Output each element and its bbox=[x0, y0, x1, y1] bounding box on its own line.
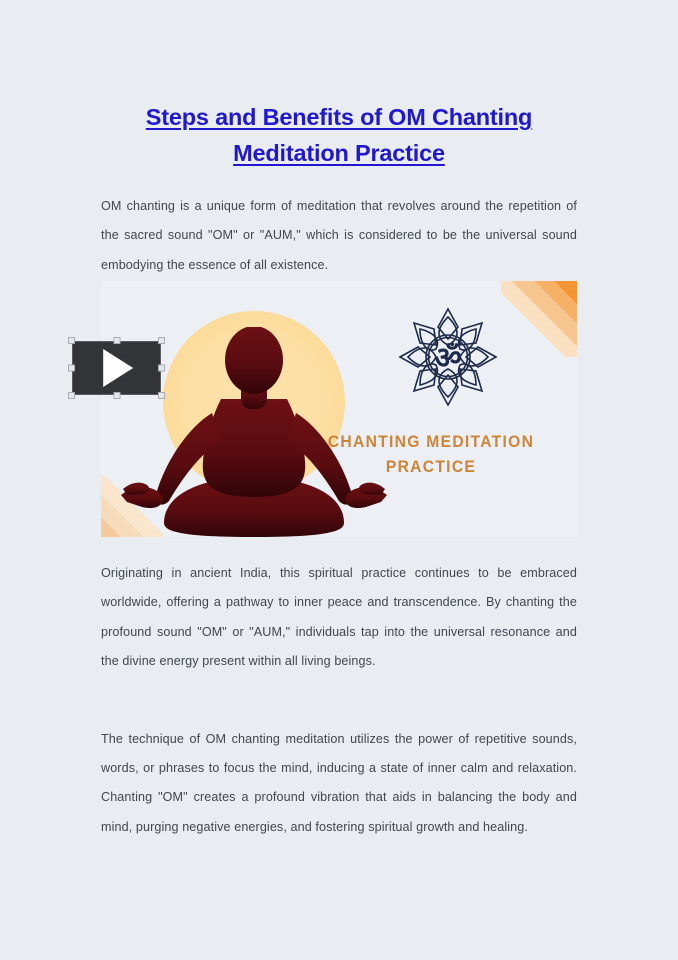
selection-handle-middle-left[interactable] bbox=[68, 365, 75, 372]
selection-handle-top-right[interactable] bbox=[158, 337, 165, 344]
figure-caption: CHANTING MEDITATION PRACTICE bbox=[308, 429, 555, 479]
selection-handle-bottom-right[interactable] bbox=[158, 392, 165, 399]
paragraph-intro: OM chanting is a unique form of meditati… bbox=[101, 171, 577, 280]
selection-handle-middle-right[interactable] bbox=[158, 365, 165, 372]
corner-ribbon-top-right-icon bbox=[501, 281, 577, 357]
selection-handle-top-center[interactable] bbox=[113, 337, 120, 344]
paragraph-second: Originating in ancient India, this spiri… bbox=[101, 537, 577, 677]
figure-canvas: ॐ CHANTING MEDITATION PRACTICE bbox=[101, 281, 577, 537]
video-play-button[interactable] bbox=[68, 337, 165, 399]
document-content-lower: Originating in ancient India, this spiri… bbox=[101, 537, 577, 842]
paragraph-third: The technique of OM chanting meditation … bbox=[101, 677, 577, 843]
document-content: Steps and Benefits of OM Chanting Medita… bbox=[101, 0, 577, 280]
om-mandala-icon: ॐ bbox=[396, 305, 500, 409]
selection-handle-top-left[interactable] bbox=[68, 337, 75, 344]
svg-text:ॐ: ॐ bbox=[434, 341, 461, 376]
selection-handle-bottom-center[interactable] bbox=[113, 392, 120, 399]
page-title: Steps and Benefits of OM Chanting Medita… bbox=[101, 0, 577, 171]
play-triangle-icon bbox=[103, 349, 133, 387]
selection-handle-bottom-left[interactable] bbox=[68, 392, 75, 399]
play-button-surface[interactable] bbox=[72, 341, 161, 395]
figure-media-embed[interactable]: ॐ CHANTING MEDITATION PRACTICE bbox=[101, 281, 577, 537]
document-page: Steps and Benefits of OM Chanting Medita… bbox=[0, 0, 678, 960]
